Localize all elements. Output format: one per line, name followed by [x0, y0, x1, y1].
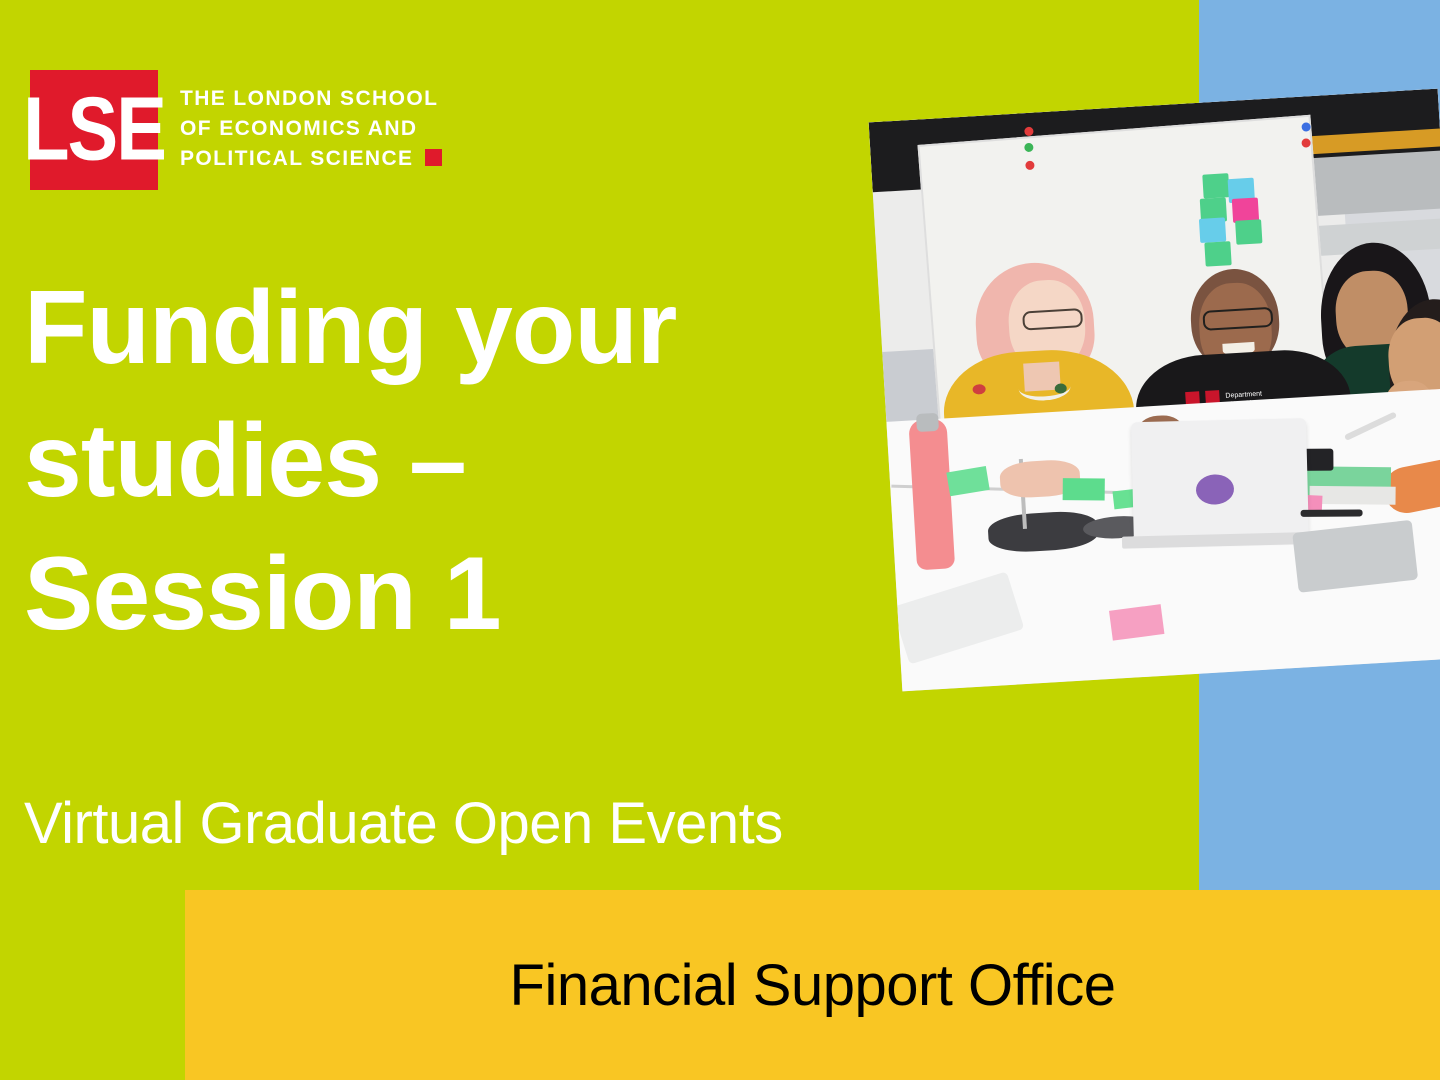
- presentation-slide: LSE THE LONDON SCHOOL OF ECONOMICS AND P…: [0, 0, 1440, 1080]
- lse-logo-line-2: OF ECONOMICS AND: [180, 114, 442, 144]
- photo-sticky-note: [1204, 241, 1231, 266]
- slide-footer-text: Financial Support Office: [185, 890, 1440, 1080]
- background-block-green-bottom-left: [0, 890, 185, 1080]
- photo-person-left-glasses: [1022, 308, 1083, 331]
- hero-photo-image: Department of Health Policy: [869, 89, 1440, 692]
- photo-person-center-glasses: [1202, 307, 1273, 331]
- lse-logo-line-1-text: THE LONDON SCHOOL: [180, 87, 438, 110]
- lse-logo-line-2-text: OF ECONOMICS AND: [180, 117, 417, 140]
- photo-sticky-note: [1235, 219, 1262, 244]
- hero-photo: Department of Health Policy: [869, 89, 1440, 692]
- lse-logo-line-3-text: POLITICAL SCIENCE: [180, 147, 413, 170]
- photo-sticky-note: [1199, 217, 1226, 242]
- lse-logo-mark: LSE: [30, 70, 158, 190]
- lse-logo: LSE THE LONDON SCHOOL OF ECONOMICS AND P…: [30, 70, 442, 190]
- photo-ceiling-duct: [1302, 149, 1440, 216]
- lse-logo-line-1: THE LONDON SCHOOL: [180, 84, 442, 114]
- lse-logo-mark-text: LSE: [23, 85, 165, 175]
- photo-sticky-note: [1202, 173, 1229, 198]
- slide-subtitle: Virtual Graduate Open Events: [24, 792, 783, 856]
- photo-marker: [1301, 509, 1363, 516]
- lse-logo-wordmark: THE LONDON SCHOOL OF ECONOMICS AND POLIT…: [180, 84, 442, 173]
- lse-logo-accent-square: [425, 149, 442, 166]
- photo-water-bottle-cap: [916, 413, 939, 432]
- slide-title: Funding your studies – Session 1: [24, 262, 814, 661]
- lse-logo-line-3: POLITICAL SCIENCE: [180, 144, 442, 174]
- photo-sticky-note: [1063, 478, 1105, 500]
